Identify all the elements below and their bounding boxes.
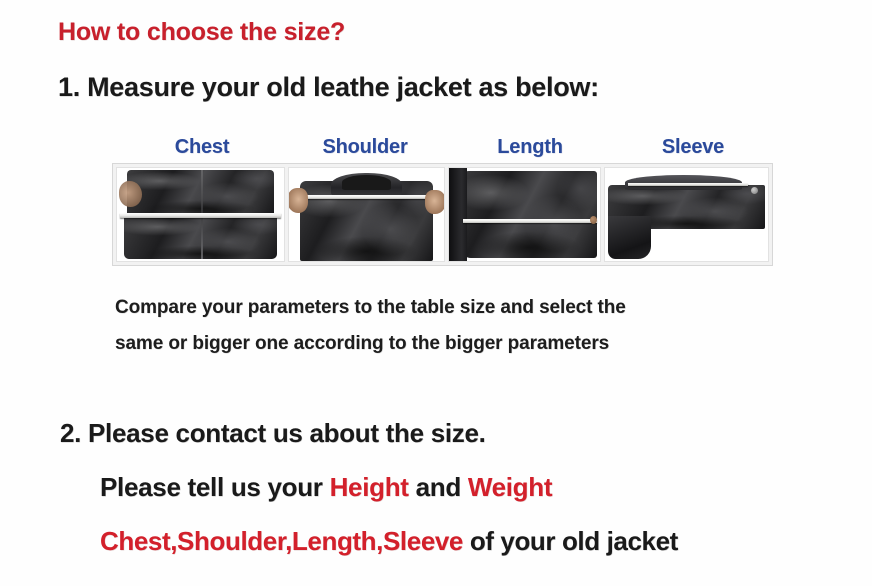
measuring-tape-chest (120, 213, 280, 218)
hand (119, 181, 142, 207)
jacket-body (461, 171, 597, 258)
measuring-tape-sleeve (628, 183, 749, 186)
height-keyword: Height (330, 472, 409, 502)
measurement-keywords: Chest,Shoulder,Length,Sleeve (100, 526, 463, 556)
height-weight-line: Please tell us your Height and Weight (100, 472, 552, 503)
shoulder-measurement-photo (288, 167, 445, 262)
sleeve-measurement-photo (604, 167, 769, 262)
measuring-tape-shoulder (298, 195, 434, 199)
jacket-cuff (608, 216, 650, 259)
hand-right (425, 190, 445, 214)
measurement-label-chest: Chest (175, 136, 230, 159)
measuring-tape-length (463, 219, 597, 223)
weight-keyword: Weight (468, 472, 552, 502)
step-2-instruction: 2. Please contact us about the size. (60, 418, 486, 449)
hand-left (288, 188, 308, 212)
measurement-labels-row: Chest Shoulder Length Sleeve (112, 136, 774, 162)
paragraph-line-1: Compare your parameters to the table siz… (115, 290, 815, 326)
measurement-label-length: Length (497, 136, 562, 159)
of-your-old-jacket-text: of your old jacket (463, 526, 678, 556)
jacket-side-edge (449, 168, 467, 261)
measurement-label-shoulder: Shoulder (322, 136, 407, 159)
tell-us-prefix: Please tell us your (100, 472, 330, 502)
measurement-label-sleeve: Sleeve (662, 136, 724, 159)
paragraph-line-2: same or bigger one according to the bigg… (115, 326, 815, 362)
and-conjunction: and (409, 472, 468, 502)
measurements-line: Chest,Shoulder,Length,Sleeve of your old… (100, 526, 678, 557)
page-title: How to choose the size? (58, 18, 345, 47)
compare-parameters-paragraph: Compare your parameters to the table siz… (115, 290, 815, 362)
jacket-collar-inner (342, 175, 392, 190)
measurement-photo-strip (112, 163, 773, 266)
step-1-instruction: 1. Measure your old leathe jacket as bel… (58, 72, 599, 103)
length-measurement-photo (448, 167, 601, 262)
chest-measurement-photo (116, 167, 285, 262)
tape-end-knob (751, 187, 758, 194)
